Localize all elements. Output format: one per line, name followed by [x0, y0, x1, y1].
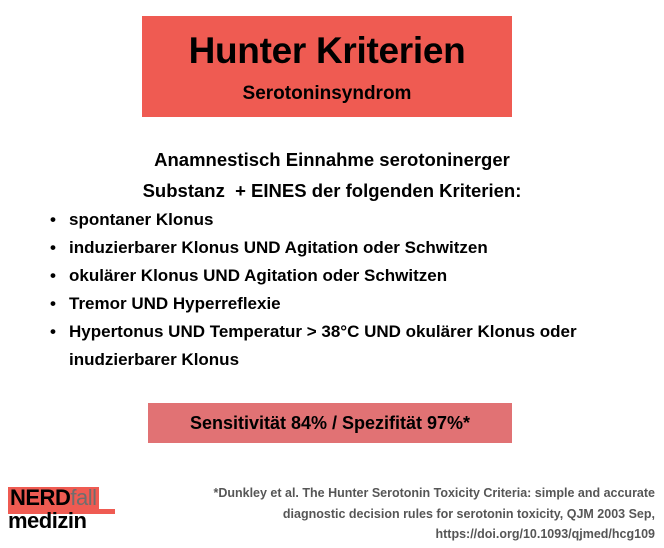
list-item: • Tremor UND Hyperreflexie — [44, 290, 628, 318]
list-item: • induzierbarer Klonus UND Agitation ode… — [44, 234, 628, 262]
list-item-label: induzierbarer Klonus UND Agitation oder … — [69, 238, 488, 257]
intro-statement: Anamnestisch Einnahme serotoninerger Sub… — [0, 144, 664, 206]
citation-line-1: *Dunkley et al. The Hunter Serotonin Tox… — [155, 483, 655, 504]
citation: *Dunkley et al. The Hunter Serotonin Tox… — [155, 483, 655, 545]
list-item: • okulärer Klonus UND Agitation oder Sch… — [44, 262, 628, 290]
list-item-label: Hypertonus UND Temperatur > 38°C UND oku… — [69, 322, 577, 369]
logo-text-nerd: NERD — [10, 485, 70, 510]
criteria-list: • spontaner Klonus • induzierbarer Klonu… — [44, 206, 628, 374]
statistics-banner: Sensitivität 84% / Spezifität 97%* — [148, 403, 512, 443]
bullet-icon: • — [50, 318, 56, 346]
page-subtitle: Serotoninsyndrom — [243, 84, 412, 105]
list-item: • spontaner Klonus — [44, 206, 628, 234]
bullet-icon: • — [50, 234, 56, 262]
page-title: Hunter Kriterien — [189, 32, 466, 71]
logo-text-fall: fall — [70, 485, 96, 510]
list-item-label: Tremor UND Hyperreflexie — [69, 294, 281, 313]
list-item: • Hypertonus UND Temperatur > 38°C UND o… — [44, 318, 628, 374]
bullet-icon: • — [50, 206, 56, 234]
statistics-label: Sensitivität 84% / Spezifität 97%* — [190, 413, 470, 434]
logo-text-medizin: medizin — [8, 508, 86, 533]
bullet-icon: • — [50, 290, 56, 318]
citation-line-2: diagnostic decision rules for serotonin … — [155, 504, 655, 525]
list-item-label: okulärer Klonus UND Agitation oder Schwi… — [69, 266, 447, 285]
citation-doi-link[interactable]: https://doi.org/10.1093/qjmed/hcg109 — [155, 524, 655, 545]
list-item-label: spontaner Klonus — [69, 210, 214, 229]
logo-row-bottom: medizin — [8, 509, 140, 533]
nerdfallmedizin-logo: NERDfall medizin — [8, 487, 140, 533]
intro-line-2: Substanz + EINES der folgenden Kriterien… — [0, 175, 664, 206]
bullet-icon: • — [50, 262, 56, 290]
header-banner: Hunter Kriterien Serotoninsyndrom — [142, 16, 512, 117]
intro-line-1: Anamnestisch Einnahme serotoninerger — [0, 144, 664, 175]
